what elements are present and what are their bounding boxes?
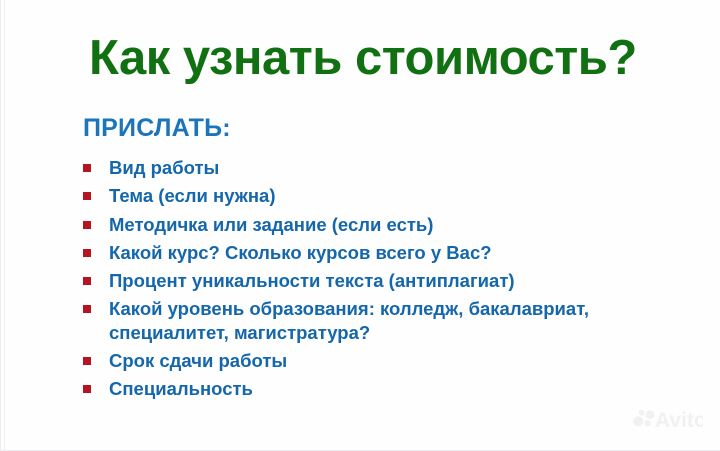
list-item-label: Срок сдачи работы (109, 349, 693, 372)
avito-logo-icon: Avito (629, 402, 703, 432)
list-item: Какой курс? Сколько курсов всего у Вас? (83, 241, 693, 264)
square-bullet-icon (83, 305, 91, 313)
square-bullet-icon (83, 385, 91, 393)
section-heading-send: ПРИСЛАТЬ: (83, 114, 231, 143)
slide-canvas: Как узнать стоимость? ПРИСЛАТЬ: Вид рабо… (0, 0, 720, 451)
list-item-label: Какой курс? Сколько курсов всего у Вас? (109, 241, 693, 264)
list-item: Специальность (83, 377, 693, 400)
list-item: Методичка или задание (если есть) (83, 213, 693, 236)
requirements-list: Вид работы Тема (если нужна) Методичка и… (83, 156, 693, 406)
list-item: Процент уникальности текста (антиплагиат… (83, 269, 693, 292)
avito-watermark: Avito (629, 402, 703, 432)
list-item-label: Специальность (109, 377, 693, 400)
square-bullet-icon (83, 249, 91, 257)
list-item-label: Какой уровень образования: колледж, бака… (109, 297, 693, 344)
page-title: Как узнать стоимость? (89, 33, 637, 84)
list-item-label: Тема (если нужна) (109, 184, 693, 207)
square-bullet-icon (83, 221, 91, 229)
square-bullet-icon (83, 277, 91, 285)
list-item-label: Методичка или задание (если есть) (109, 213, 693, 236)
square-bullet-icon (83, 357, 91, 365)
square-bullet-icon (83, 192, 91, 200)
list-item: Вид работы (83, 156, 693, 179)
list-item: Срок сдачи работы (83, 349, 693, 372)
svg-text:Avito: Avito (655, 409, 703, 432)
list-item: Тема (если нужна) (83, 184, 693, 207)
paper-seam-divider (4, 0, 5, 451)
list-item-label: Процент уникальности текста (антиплагиат… (109, 269, 693, 292)
list-item: Какой уровень образования: колледж, бака… (83, 297, 693, 344)
square-bullet-icon (83, 164, 91, 172)
list-item-label: Вид работы (109, 156, 693, 179)
